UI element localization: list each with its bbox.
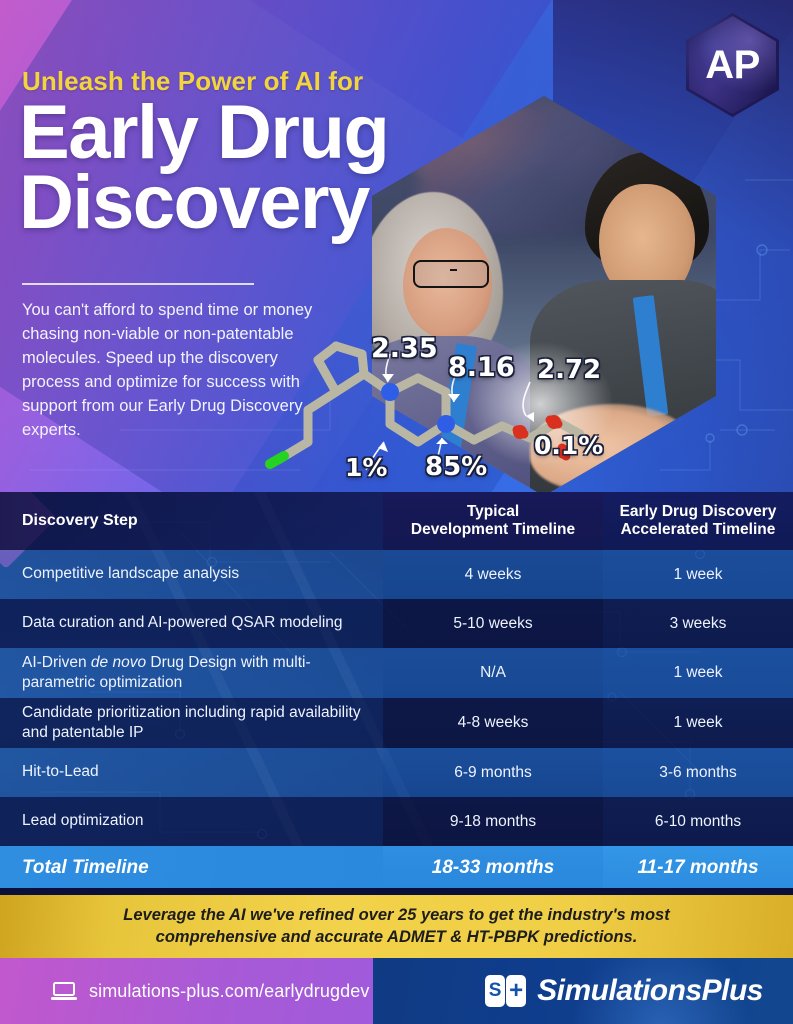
ap-logo-text: AP [705, 43, 760, 88]
column-header-accelerated-line1: Early Drug Discovery [620, 503, 777, 520]
table-row: Candidate prioritization including rapid… [0, 698, 793, 748]
row-step: Data curation and AI-powered QSAR modeli… [0, 599, 383, 648]
annotation-value-0: 2.35 [371, 333, 438, 364]
page-title: Early Drug Discovery [19, 98, 388, 238]
row-accelerated: 6-10 months [603, 797, 793, 846]
row-step-prefix: AI-Driven [22, 654, 91, 671]
page-title-line-2: Discovery [19, 168, 388, 238]
row-step-emphasis: de novo [91, 654, 146, 671]
row-accelerated: 3-6 months [603, 748, 793, 797]
row-accelerated: 3 weeks [603, 599, 793, 648]
row-typical: 4 weeks [383, 550, 603, 599]
simulations-plus-mark-icon: S + [485, 975, 527, 1007]
total-typical: 18-33 months [383, 846, 603, 888]
annotation-value-2: 2.72 [537, 355, 601, 385]
simulations-plus-wordmark: SimulationsPlus [537, 974, 763, 1008]
simulations-plus-logo: S + SimulationsPlus [485, 958, 763, 1024]
footer-url-text: simulations-plus.com/earlydrugdev [89, 981, 369, 1002]
row-accelerated: 1 week [603, 550, 793, 599]
row-step: Lead optimization [0, 797, 383, 846]
infographic-page: AP Unleash the Power of AI for Early Dru… [0, 0, 793, 1024]
table-header-row: Discovery Step Typical Development Timel… [0, 492, 793, 550]
row-typical: N/A [383, 648, 603, 698]
callout-banner: Leverage the AI we've refined over 25 ye… [0, 895, 793, 958]
row-accelerated: 1 week [603, 698, 793, 748]
column-header-accelerated-line2: Accelerated Timeline [621, 521, 776, 538]
annotation-value-1: 8.16 [448, 352, 515, 383]
row-typical: 4-8 weeks [383, 698, 603, 748]
row-typical: 5-10 weeks [383, 599, 603, 648]
table-total-row: Total Timeline 18-33 months 11-17 months [0, 846, 793, 888]
row-accelerated: 1 week [603, 648, 793, 698]
hero-section: AP Unleash the Power of AI for Early Dru… [0, 0, 793, 492]
hero-divider [22, 283, 254, 285]
annotation-value-4: 1% [345, 453, 387, 482]
table-row: Competitive landscape analysis 4 weeks 1… [0, 550, 793, 599]
comparison-table-section: Discovery Step Typical Development Timel… [0, 492, 793, 888]
photo-person-woman-glasses [413, 260, 489, 288]
row-step: Competitive landscape analysis [0, 550, 383, 599]
logo-square-s: S [485, 975, 505, 1007]
annotation-value-5: 85% [425, 452, 487, 482]
total-accelerated: 11-17 months [603, 846, 793, 888]
row-step: Hit-to-Lead [0, 748, 383, 797]
laptop-icon [52, 982, 76, 1000]
callout-banner-text: Leverage the AI we've refined over 25 ye… [77, 905, 717, 949]
table-row: AI-Driven de novo Drug Design with multi… [0, 648, 793, 698]
logo-square-plus: + [506, 975, 526, 1007]
total-label: Total Timeline [0, 846, 383, 888]
table-row: Data curation and AI-powered QSAR modeli… [0, 599, 793, 648]
column-header-typical: Typical Development Timeline [383, 492, 603, 550]
annotation-value-3: 0.1% [534, 431, 603, 460]
column-header-typical-line1: Typical [467, 503, 519, 520]
row-step: Candidate prioritization including rapid… [0, 698, 383, 748]
row-step: AI-Driven de novo Drug Design with multi… [0, 648, 383, 698]
discovery-timeline-table: Discovery Step Typical Development Timel… [0, 492, 793, 888]
column-header-step: Discovery Step [0, 492, 383, 550]
table-row: Hit-to-Lead 6-9 months 3-6 months [0, 748, 793, 797]
column-header-typical-line2: Development Timeline [411, 521, 575, 538]
table-row: Lead optimization 9-18 months 6-10 month… [0, 797, 793, 846]
footer-url-link[interactable]: simulations-plus.com/earlydrugdev [52, 958, 369, 1024]
row-typical: 9-18 months [383, 797, 603, 846]
column-header-accelerated: Early Drug Discovery Accelerated Timelin… [603, 492, 793, 550]
footer: simulations-plus.com/earlydrugdev S + Si… [0, 958, 793, 1024]
row-typical: 6-9 months [383, 748, 603, 797]
